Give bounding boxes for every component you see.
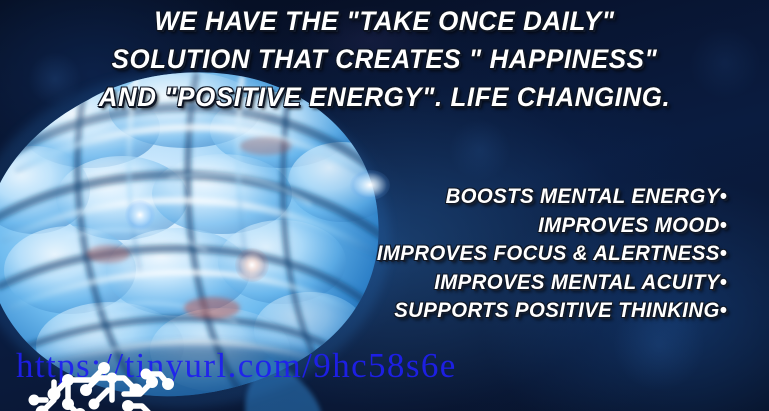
benefits-list: BOOSTS MENTAL ENERGY• IMPROVES MOOD• IMP… [366, 183, 727, 326]
bullet-icon: • [719, 185, 727, 208]
promotional-banner: WE HAVE THE "TAKE ONCE DAILY" SOLUTION T… [0, 0, 769, 411]
bullet-icon: • [719, 242, 727, 265]
headline-line-1: WE HAVE THE "TAKE ONCE DAILY" [15, 2, 753, 40]
headline: WE HAVE THE "TAKE ONCE DAILY" SOLUTION T… [0, 2, 769, 116]
headline-line-2: SOLUTION THAT CREATES " HAPPINESS" [15, 40, 753, 78]
background-bokeh-dot [450, 120, 510, 180]
headline-line-3: AND "POSITIVE ENERGY". LIFE CHANGING. [15, 78, 753, 116]
benefit-item: BOOSTS MENTAL ENERGY• [377, 183, 727, 212]
bullet-icon: • [719, 214, 727, 237]
circuit-brain-logo [28, 360, 178, 411]
benefit-item: IMPROVES FOCUS & ALERTNESS• [377, 240, 727, 269]
benefit-label: IMPROVES MENTAL ACUITY [434, 271, 719, 294]
bullet-icon: • [719, 299, 727, 322]
benefit-item: SUPPORTS POSITIVE THINKING• [377, 297, 727, 326]
benefit-label: IMPROVES FOCUS & ALERTNESS [377, 242, 720, 265]
benefit-item: IMPROVES MENTAL ACUITY• [377, 269, 727, 298]
benefit-label: BOOSTS MENTAL ENERGY [445, 185, 719, 208]
bullet-icon: • [719, 271, 727, 294]
benefit-label: IMPROVES MOOD [538, 214, 720, 237]
benefit-label: SUPPORTS POSITIVE THINKING [394, 299, 719, 322]
benefit-item: IMPROVES MOOD• [377, 212, 727, 241]
